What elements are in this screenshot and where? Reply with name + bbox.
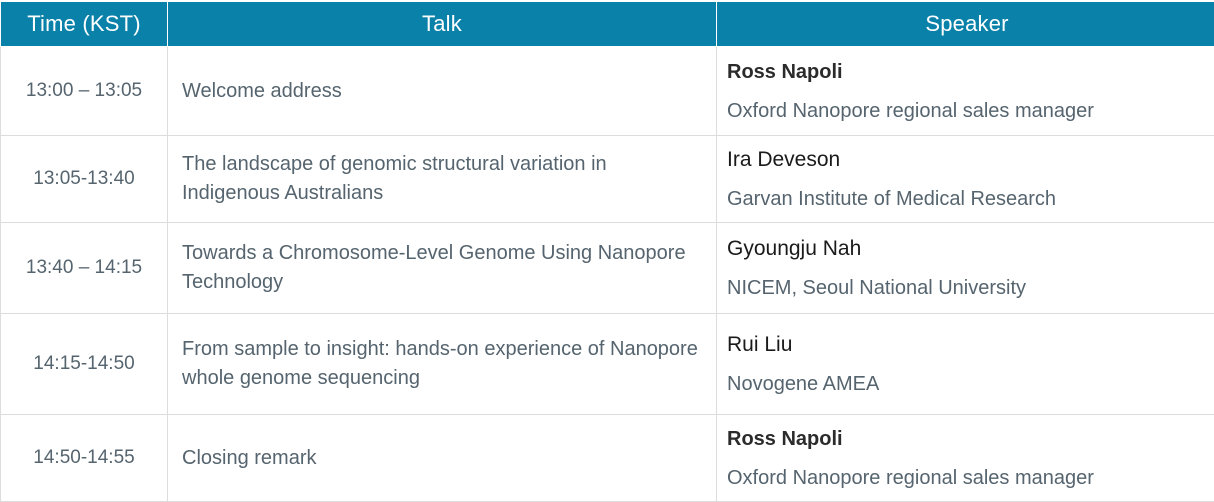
table-header: Time (KST) Talk Speaker (1, 1, 1214, 47)
cell-time: 14:15-14:50 (1, 314, 168, 415)
cell-time: 13:40 – 14:15 (1, 223, 168, 314)
cell-speaker: Gyoungju Nah NICEM, Seoul National Unive… (717, 223, 1214, 314)
table-row: 13:40 – 14:15 Towards a Chromosome-Level… (1, 223, 1214, 314)
cell-speaker: Ross Napoli Oxford Nanopore regional sal… (717, 415, 1214, 502)
speaker-name: Gyoungju Nah (727, 236, 1209, 262)
speaker-name: Ross Napoli (727, 60, 1209, 85)
cell-talk: Towards a Chromosome-Level Genome Using … (168, 223, 717, 314)
table-row: 13:00 – 13:05 Welcome address Ross Napol… (1, 47, 1214, 136)
column-header-time: Time (KST) (1, 1, 168, 47)
table-row: 13:05-13:40 The landscape of genomic str… (1, 136, 1214, 223)
table-header-row: Time (KST) Talk Speaker (1, 1, 1214, 47)
agenda-table: Time (KST) Talk Speaker 13:00 – 13:05 We… (0, 0, 1214, 502)
cell-speaker: Ira Deveson Garvan Institute of Medical … (717, 136, 1214, 223)
speaker-affiliation: Novogene AMEA (727, 372, 1209, 396)
cell-time: 14:50-14:55 (1, 415, 168, 502)
speaker-name: Ira Deveson (727, 147, 1209, 173)
speaker-name: Ross Napoli (727, 427, 1209, 452)
column-header-talk: Talk (168, 1, 717, 47)
cell-talk: From sample to insight: hands-on experie… (168, 314, 717, 415)
column-header-speaker: Speaker (717, 1, 1214, 47)
agenda-table-container: Time (KST) Talk Speaker 13:00 – 13:05 We… (0, 0, 1214, 461)
speaker-affiliation: NICEM, Seoul National University (727, 276, 1209, 300)
cell-talk: Welcome address (168, 47, 717, 136)
cell-time: 13:00 – 13:05 (1, 47, 168, 136)
cell-time: 13:05-13:40 (1, 136, 168, 223)
table-row: 14:50-14:55 Closing remark Ross Napoli O… (1, 415, 1214, 502)
cell-speaker: Ross Napoli Oxford Nanopore regional sal… (717, 47, 1214, 136)
speaker-affiliation: Garvan Institute of Medical Research (727, 187, 1209, 211)
cell-talk: The landscape of genomic structural vari… (168, 136, 717, 223)
cell-speaker: Rui Liu Novogene AMEA (717, 314, 1214, 415)
cell-talk: Closing remark (168, 415, 717, 502)
speaker-name: Rui Liu (727, 332, 1209, 358)
table-row: 14:15-14:50 From sample to insight: hand… (1, 314, 1214, 415)
speaker-affiliation: Oxford Nanopore regional sales manager (727, 99, 1209, 123)
speaker-affiliation: Oxford Nanopore regional sales manager (727, 466, 1209, 490)
table-body: 13:00 – 13:05 Welcome address Ross Napol… (1, 47, 1214, 502)
